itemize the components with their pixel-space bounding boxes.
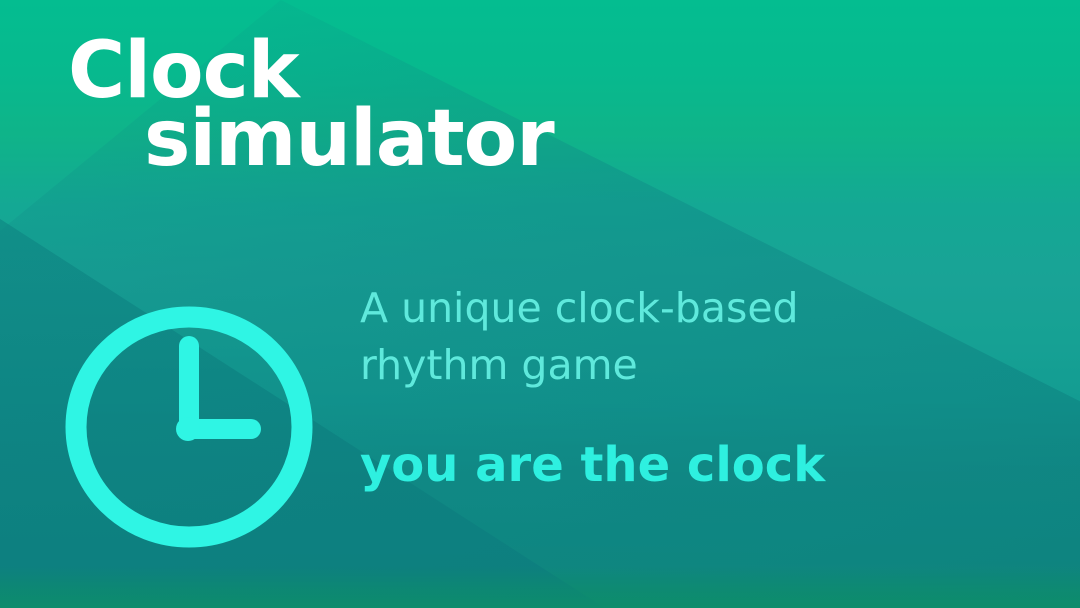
game-tagline: you are the clock — [360, 437, 825, 493]
clock-icon — [55, 296, 323, 558]
background-bottom-band — [0, 566, 1080, 608]
clock-simulator-banner: Clock simulator A unique clock-based rhy… — [0, 0, 1080, 608]
game-subtitle: A unique clock-based rhythm game — [360, 280, 960, 393]
game-title-line-2: simulator — [144, 100, 554, 178]
game-subtitle-line-2: rhythm game — [360, 337, 960, 394]
game-subtitle-line-1: A unique clock-based — [360, 280, 960, 337]
